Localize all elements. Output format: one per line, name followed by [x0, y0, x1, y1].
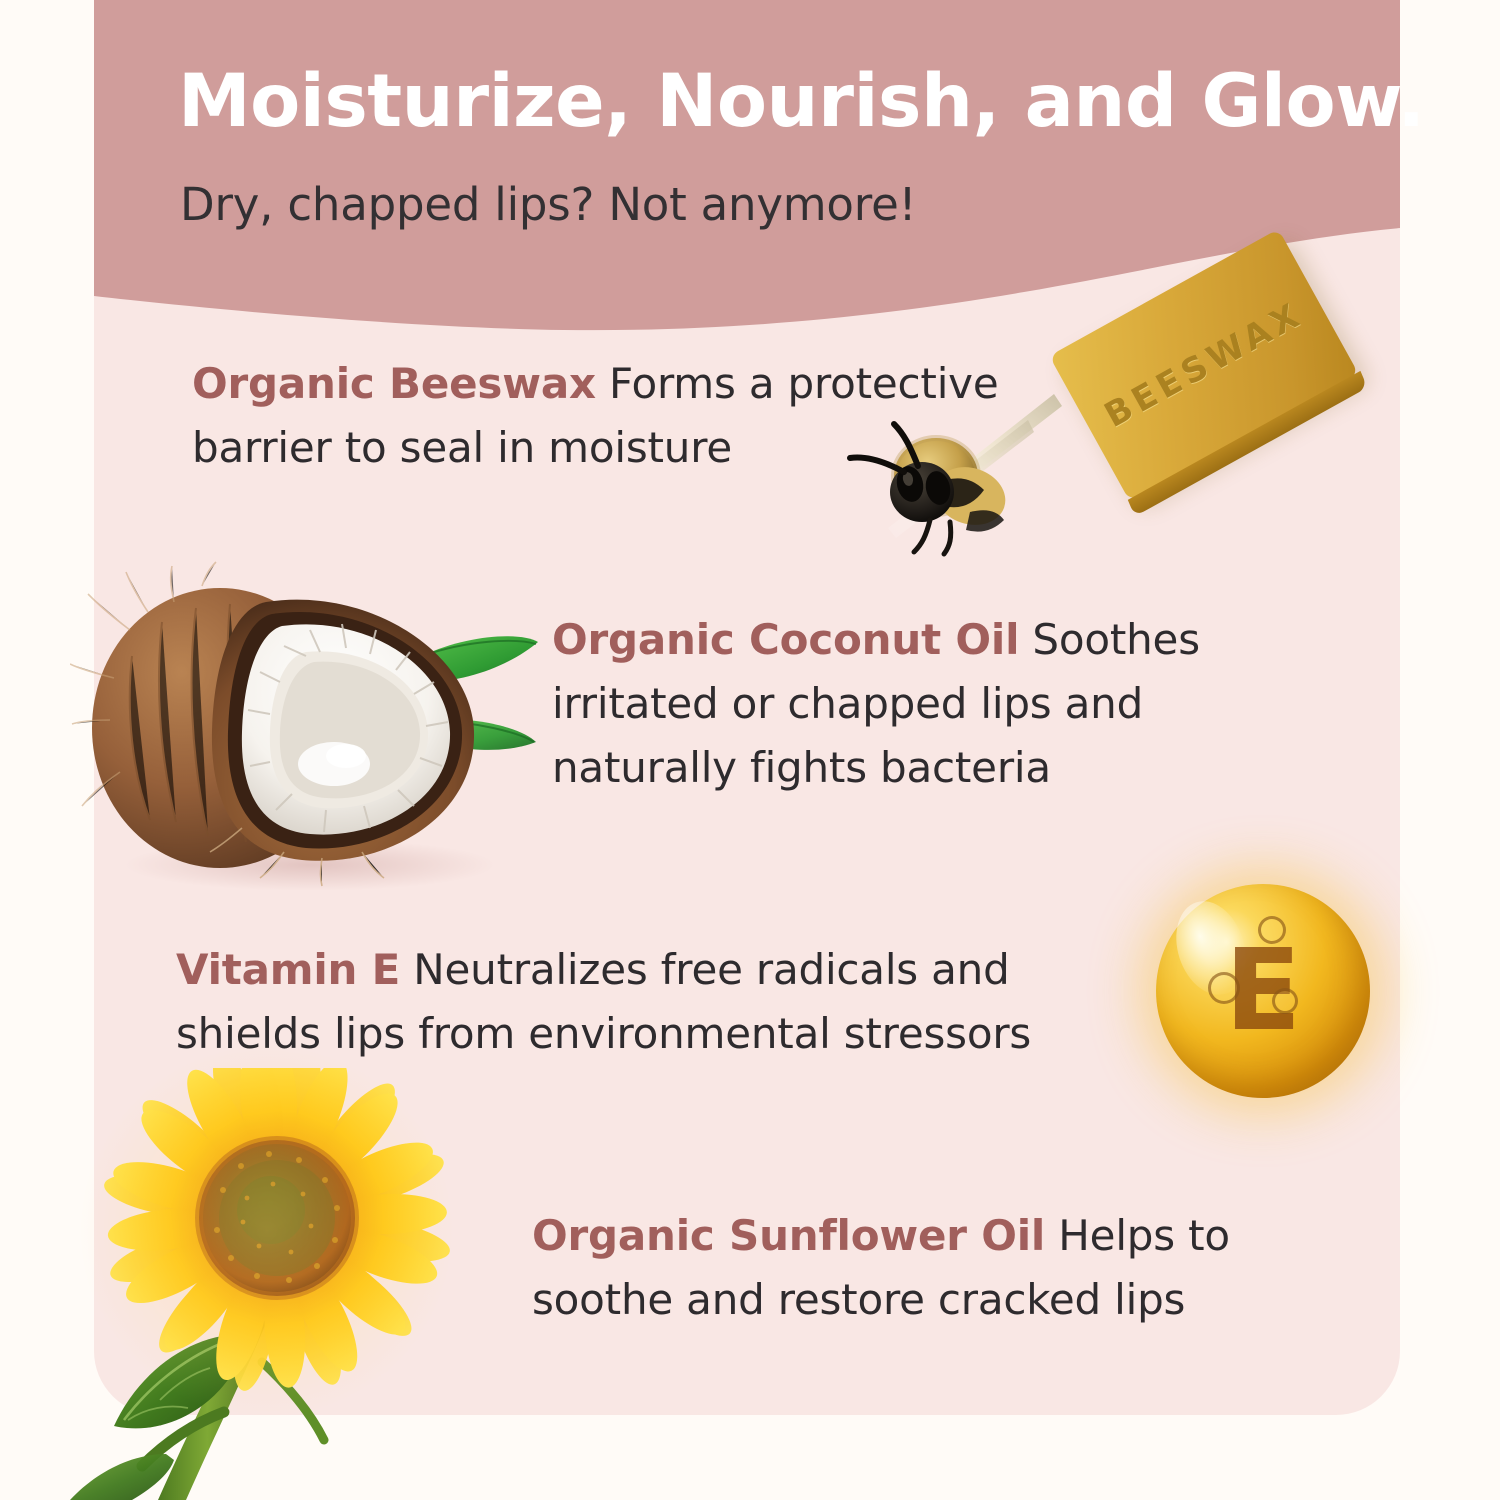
ingredient-text-coconut: Organic Coconut Oil Soothes irritated or…	[552, 608, 1282, 799]
ingredient-term-sunflower: Organic Sunflower Oil	[532, 1211, 1045, 1260]
beeswax-bar-image: BEESWAX	[1035, 240, 1395, 570]
coconut-icon	[70, 560, 540, 890]
infographic-canvas: Moisturize, Nourish, and Glow. Dry, chap…	[0, 0, 1500, 1500]
sunflower-glow	[72, 1036, 462, 1426]
vitamin-letter: E	[1156, 884, 1370, 1098]
bubble-top-icon	[1258, 916, 1286, 944]
beeswax-bar: BEESWAX	[1049, 229, 1359, 501]
ingredient-term-beeswax: Organic Beeswax	[192, 359, 596, 408]
vitamin-e-capsule-image: E	[1138, 872, 1398, 1112]
bee-icon	[818, 380, 1078, 560]
bubble-right-icon	[1272, 988, 1298, 1014]
ingredient-term-coconut: Organic Coconut Oil	[552, 615, 1019, 664]
ingredient-term-vitamine: Vitamin E	[176, 945, 400, 994]
sunflower-image	[62, 1068, 492, 1500]
page-title: Moisturize, Nourish, and Glow.	[178, 64, 1358, 141]
bubble-left-icon	[1208, 972, 1240, 1004]
page-subtitle: Dry, chapped lips? Not anymore!	[180, 178, 1280, 231]
vitamin-e-sphere: E	[1156, 884, 1370, 1098]
honeybee-image	[818, 380, 1078, 560]
ingredient-text-sunflower: Organic Sunflower Oil Helps to soothe an…	[532, 1204, 1302, 1332]
coconut-image	[70, 560, 540, 890]
